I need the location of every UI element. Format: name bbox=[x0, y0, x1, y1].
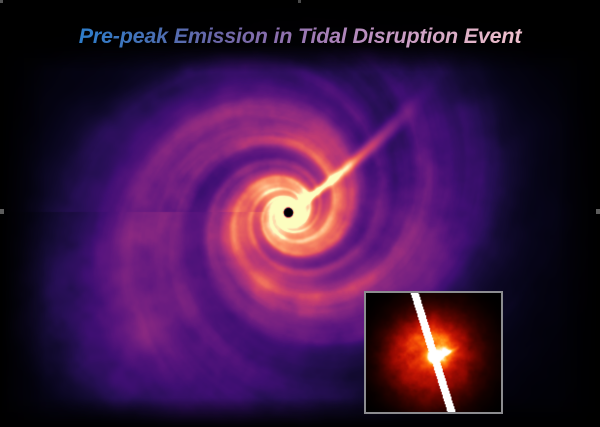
figure-container: Pre-peak Emission in Tidal Disruption Ev… bbox=[0, 0, 600, 427]
tidal-disruption-simulation-canvas bbox=[0, 0, 600, 427]
crop-mark-top-center bbox=[298, 0, 301, 3]
inner-region-zoom-canvas bbox=[366, 293, 501, 412]
crop-mark-right bbox=[596, 209, 600, 214]
inset-panel bbox=[364, 291, 503, 414]
page-title: Pre-peak Emission in Tidal Disruption Ev… bbox=[0, 24, 600, 49]
crop-mark-left bbox=[0, 209, 4, 214]
crop-mark-top-left bbox=[0, 0, 3, 3]
